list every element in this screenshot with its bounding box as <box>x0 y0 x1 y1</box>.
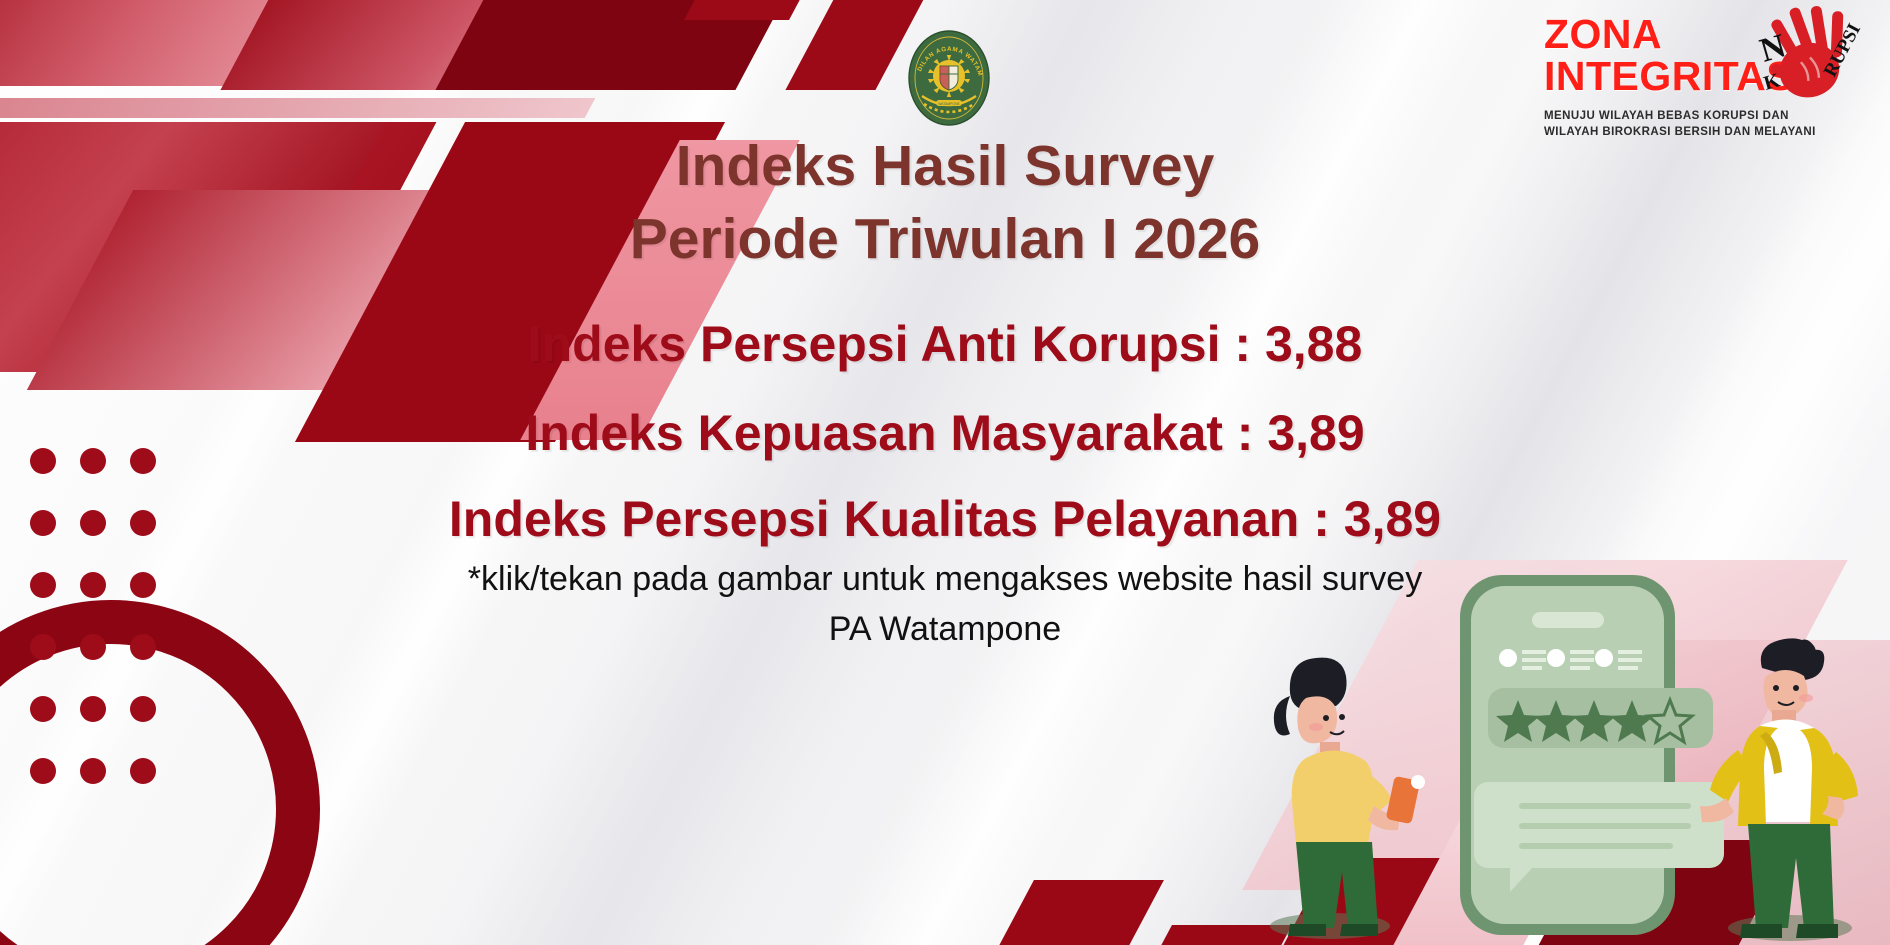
decor-bar <box>684 0 821 20</box>
pengadilan-agama-emblem-icon: PENGADILAN AGAMA WATAMPONE <box>908 30 990 126</box>
decor-bar <box>0 0 406 86</box>
index-kepuasan-masyarakat: Indeks Kepuasan Masyarakat : 3,89 <box>0 404 1890 462</box>
svg-text:WATAMPONE: WATAMPONE <box>938 102 960 106</box>
zona-integritas-logo: N K RUPSI ZONA INTEGRITAS MENUJU WILAYAH… <box>1544 14 1874 141</box>
decor-dot <box>130 696 156 722</box>
decor-dot <box>30 696 56 722</box>
page-title-line2: Periode Triwulan I 2026 <box>0 203 1890 276</box>
survey-rating-illustration[interactable] <box>1250 520 1890 945</box>
page-title: Indeks Hasil Survey Periode Triwulan I 2… <box>0 130 1890 276</box>
decor-bar <box>435 0 804 90</box>
decor-dot <box>80 696 106 722</box>
decor-dot <box>130 758 156 784</box>
no-korupsi-handprint-icon: N K RUPSI <box>1722 6 1882 126</box>
decor-bar <box>986 880 1164 945</box>
woman-figure <box>1270 658 1425 939</box>
survey-result-poster: PENGADILAN AGAMA WATAMPONE <box>0 0 1890 945</box>
index-anti-korupsi: Indeks Persepsi Anti Korupsi : 3,88 <box>0 315 1890 373</box>
decor-stripe <box>0 98 595 118</box>
decor-bar <box>220 0 619 90</box>
decor-bar <box>0 0 346 86</box>
decor-dot <box>80 758 106 784</box>
page-title-line1: Indeks Hasil Survey <box>0 130 1890 203</box>
man-figure <box>1700 638 1858 941</box>
review-phone-graphic <box>1460 575 1724 935</box>
decor-dot <box>30 758 56 784</box>
